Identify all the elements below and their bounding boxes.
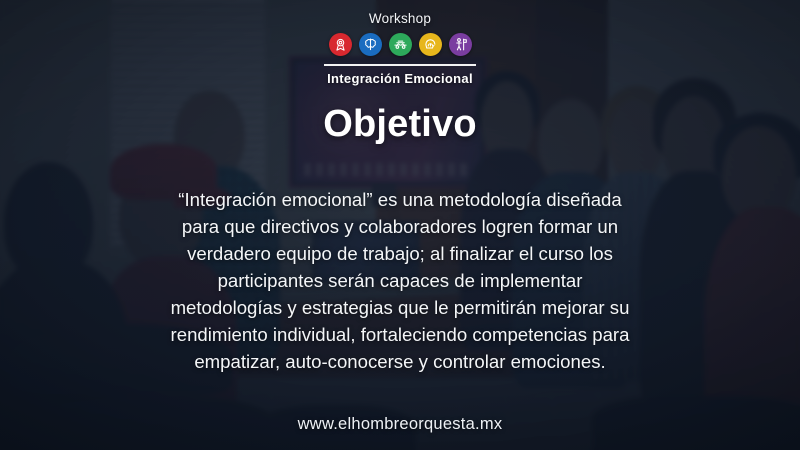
- objective-body-text: “Integración emocional” es una metodolog…: [165, 187, 635, 375]
- award-medal-icon: [329, 33, 352, 56]
- presenter-person-icon: [449, 33, 472, 56]
- brain-icon: [359, 33, 382, 56]
- footer-url: www.elhombreorquesta.mx: [0, 415, 800, 434]
- brand-name: Integración Emocional: [327, 71, 473, 86]
- badge-row: [329, 33, 472, 56]
- presentation-slide: Workshop: [0, 0, 800, 450]
- kicker-label: Workshop: [369, 11, 431, 26]
- handshake-gears-icon: [389, 33, 412, 56]
- page-title: Objetivo: [323, 103, 477, 146]
- brand-divider: [324, 64, 476, 66]
- slide-content: Workshop: [0, 0, 800, 450]
- lightbulb-head-icon: [419, 33, 442, 56]
